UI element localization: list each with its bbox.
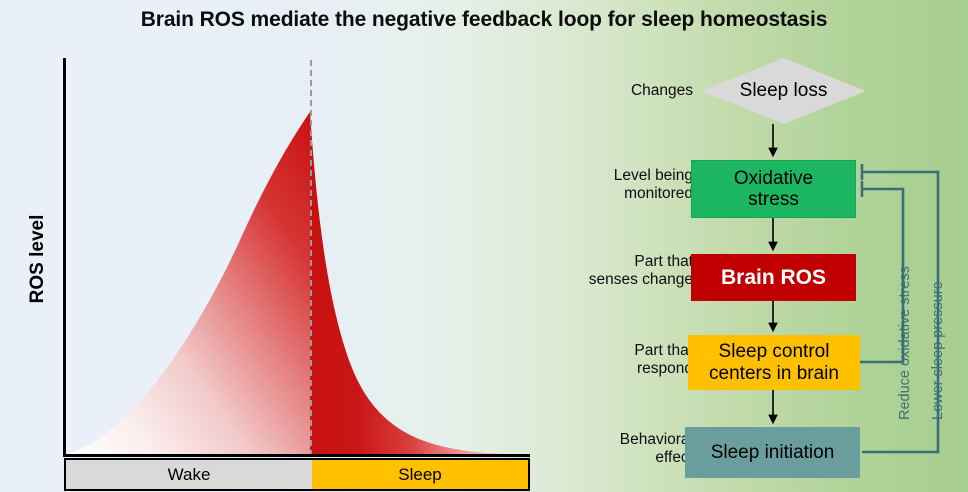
- y-axis-line: [63, 58, 66, 456]
- row-label-senses-change-line1: Part that: [544, 253, 693, 271]
- node-sleep-loss[interactable]: Sleep loss: [701, 58, 866, 124]
- node-sleep-control-centers[interactable]: Sleep control centers in brain: [688, 335, 860, 390]
- node-oxidative-stress[interactable]: Oxidative stress: [691, 160, 856, 218]
- feedback-label-reduce-oxidative-stress: Reduce oxidative stress: [897, 266, 913, 420]
- row-label-behavioral-effect-line2: effect: [553, 449, 693, 467]
- wake-sleep-divider: [310, 60, 312, 456]
- row-label-respond-line1: Part that: [553, 342, 693, 360]
- row-label-level-monitored-line2: monitored: [553, 185, 693, 203]
- ros-level-chart: ROS level: [0, 50, 548, 492]
- node-oxidative-stress-line2: stress: [748, 189, 799, 210]
- node-oxidative-stress-line1: Oxidative: [734, 168, 813, 189]
- node-sleep-loss-label: Sleep loss: [740, 80, 828, 101]
- feedback-loop-flowchart: Changes Level being monitored Part that …: [548, 50, 968, 492]
- node-sleep-control-centers-label: Sleep control centers in brain: [709, 341, 839, 384]
- node-sleep-initiation-label: Sleep initiation: [711, 442, 835, 463]
- node-sleep-control-line2: centers in brain: [709, 363, 839, 384]
- state-segment-wake: Wake: [66, 460, 312, 489]
- node-sleep-initiation[interactable]: Sleep initiation: [685, 427, 860, 478]
- x-axis-line: [63, 454, 530, 457]
- row-label-respond-line2: respond: [553, 360, 693, 378]
- row-label-senses-change: Part that senses change: [544, 253, 693, 290]
- row-label-behavioral-effect-line1: Behavioral: [553, 431, 693, 449]
- row-label-senses-change-line2: senses change: [544, 271, 693, 289]
- ros-curve-area: [0, 50, 548, 492]
- node-brain-ros[interactable]: Brain ROS: [691, 254, 856, 301]
- row-label-changes: Changes: [553, 82, 693, 100]
- figure-title: Brain ROS mediate the negative feedback …: [0, 8, 968, 32]
- node-brain-ros-label: Brain ROS: [721, 266, 826, 290]
- sleep-state-bar: Wake Sleep: [64, 458, 530, 491]
- figure-canvas: Brain ROS mediate the negative feedback …: [0, 0, 968, 492]
- node-oxidative-stress-label: Oxidative stress: [734, 168, 813, 211]
- row-label-level-monitored: Level being monitored: [553, 167, 693, 204]
- feedback-label-lower-sleep-pressure: Lower sleep pressure: [930, 281, 946, 420]
- row-label-respond: Part that respond: [553, 342, 693, 379]
- row-label-behavioral-effect: Behavioral effect: [553, 431, 693, 468]
- node-sleep-control-line1: Sleep control: [719, 341, 830, 362]
- row-label-level-monitored-line1: Level being: [553, 167, 693, 185]
- state-segment-sleep: Sleep: [312, 460, 528, 489]
